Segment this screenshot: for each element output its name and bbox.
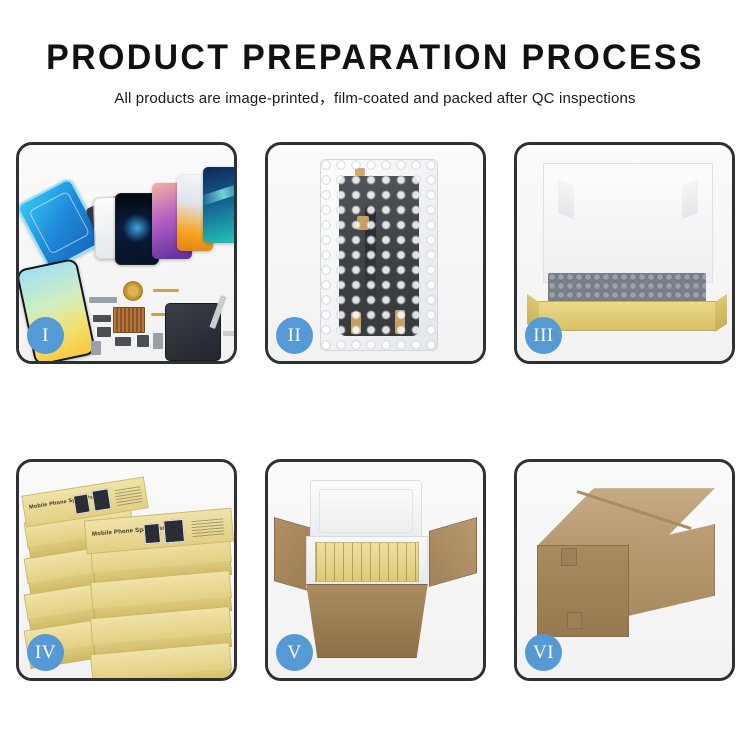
box-spec-text-left xyxy=(115,486,143,507)
bubble-wrap-bag xyxy=(320,159,438,351)
phone-teal-display xyxy=(203,167,237,243)
step-panel-5: V xyxy=(265,459,486,681)
part-phone-backplate xyxy=(165,303,221,361)
carton-tab-upper xyxy=(561,548,577,566)
part-sim-tray xyxy=(91,341,101,355)
carton-tab-lower xyxy=(567,612,582,629)
step-badge-3: III xyxy=(525,317,562,354)
white-box-lid xyxy=(543,163,713,283)
lid-flap-right xyxy=(682,179,698,219)
part-small-module-b xyxy=(97,327,111,337)
part-battery-clip xyxy=(153,333,163,349)
step-badge-5: V xyxy=(276,634,313,671)
step-badge-2: II xyxy=(276,317,313,354)
step-badge-1: I xyxy=(27,317,64,354)
product-preparation-infographic: PRODUCT PREPARATION PROCESS All products… xyxy=(0,0,750,750)
step-badge-4: IV xyxy=(27,634,64,671)
part-speaker-coil xyxy=(123,281,143,301)
box-window-right-b xyxy=(163,519,185,544)
step-panel-6: VI xyxy=(514,459,735,681)
step-panel-4: Mobile Phone Spare Parts Mobile Phone Sp… xyxy=(16,459,237,681)
box-window-left-a xyxy=(73,493,91,514)
page-subtitle: All products are image-printed，film-coat… xyxy=(0,87,750,108)
box-label-left: Mobile Phone Spare Parts xyxy=(29,493,102,510)
step-panel-1: I xyxy=(16,142,237,364)
header: PRODUCT PREPARATION PROCESS All products… xyxy=(0,0,750,108)
part-camera-module xyxy=(115,337,131,346)
lid-flap-left xyxy=(558,179,574,219)
part-small-module-a xyxy=(93,315,111,322)
step-panel-2: II xyxy=(265,142,486,364)
part-connector-strip xyxy=(89,297,117,303)
part-vibrator xyxy=(137,335,149,347)
page-title: PRODUCT PREPARATION PROCESS xyxy=(11,40,739,77)
carton-front-panel xyxy=(298,584,436,658)
carton-left-face xyxy=(537,545,629,637)
kraft-box-base xyxy=(537,301,717,331)
step-badge-6: VI xyxy=(525,634,562,671)
carton-flap-right xyxy=(429,517,477,587)
process-step-grid: I II xyxy=(16,142,735,681)
step-panel-3: III xyxy=(514,142,735,364)
part-flex-cable-a xyxy=(153,289,179,292)
packed-kraft-boxes xyxy=(315,542,419,582)
part-logic-board xyxy=(113,307,145,333)
bubble-texture-overlay xyxy=(321,160,437,350)
box-spec-text-right xyxy=(191,518,224,539)
box-window-right-a xyxy=(143,523,161,544)
box-window-left-b xyxy=(91,488,111,511)
foam-box-lid xyxy=(310,480,422,542)
part-screwdriver xyxy=(223,331,235,336)
